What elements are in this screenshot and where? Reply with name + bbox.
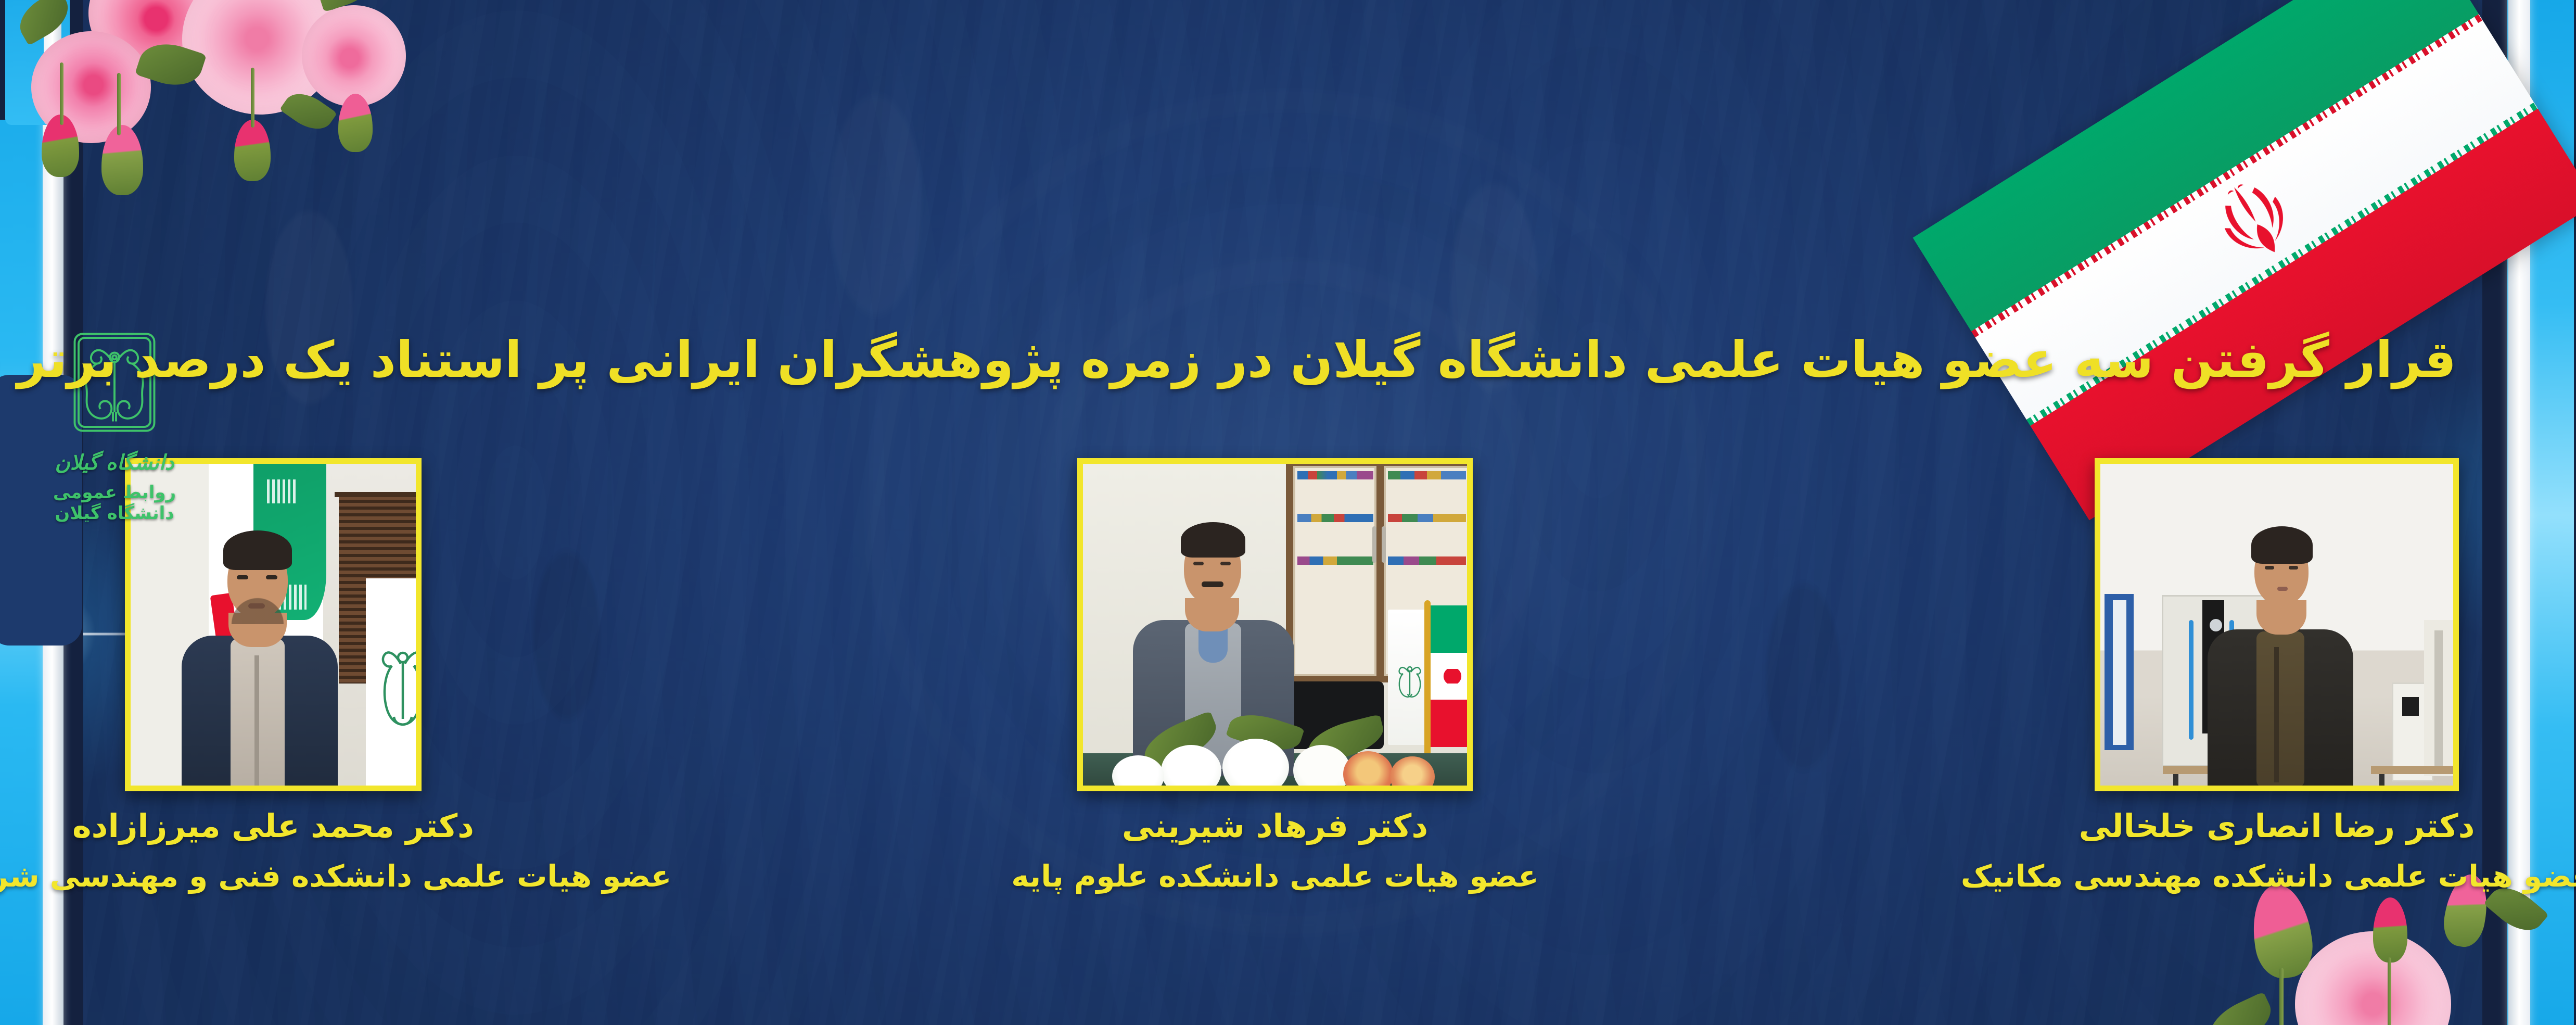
researcher-name: دکتر فرهاد شیرینی: [1122, 807, 1428, 845]
university-flag-emblem-icon: [1395, 656, 1424, 714]
rose-bud-icon: [234, 120, 271, 181]
public-relations-label: روابط عمومی دانشگاه گیلان: [31, 482, 198, 524]
researcher-role: عضو هیات علمی دانشکده مهندسی مکانیک: [1961, 858, 2576, 894]
rose-cluster-top-left: [10, 0, 396, 208]
researcher-role: عضو هیات علمی دانشکده فنی و مهندسی شرق گ…: [0, 858, 671, 894]
announcement-banner: دانشگاه گیلان روابط عمومی دانشگاه گیلان …: [0, 0, 2576, 1025]
stem: [117, 73, 121, 135]
researcher-name: دکتر محمد علی میرزازاده: [72, 807, 474, 845]
rose-bud-icon: [101, 125, 143, 195]
rose-icon: [302, 5, 406, 107]
portrait-frame: [1077, 458, 1473, 791]
stem: [251, 68, 254, 128]
researcher-card: دکتر فرهاد شیرینی عضو هیات علمی دانشکده …: [1075, 458, 1475, 894]
page-title: قرار گرفتن سه عضو هیات علمی دانشگاه گیلا…: [208, 333, 2456, 387]
portrait-farhad-shirini: [1083, 464, 1467, 786]
stem: [60, 62, 63, 125]
researcher-card: دکتر رضا انصاری خلخالی عضو هیات علمی دان…: [2076, 458, 2477, 894]
leaf-icon: [2202, 992, 2278, 1025]
university-flag-emblem-icon: [379, 630, 416, 750]
portrait-frame: [2095, 458, 2459, 791]
researcher-name: دکتر رضا انصاری خلخالی: [2079, 807, 2475, 845]
portrait-reza-ansari-khalkhali: [2100, 464, 2453, 786]
stem: [2279, 968, 2284, 1025]
logo-script-text: دانشگاه گیلان: [31, 451, 198, 475]
stem: [2388, 957, 2391, 1025]
researcher-role: عضو هیات علمی دانشکده علوم پایه: [1011, 858, 1539, 894]
researchers-row: دکتر رضا انصاری خلخالی عضو هیات علمی دان…: [73, 458, 2477, 958]
